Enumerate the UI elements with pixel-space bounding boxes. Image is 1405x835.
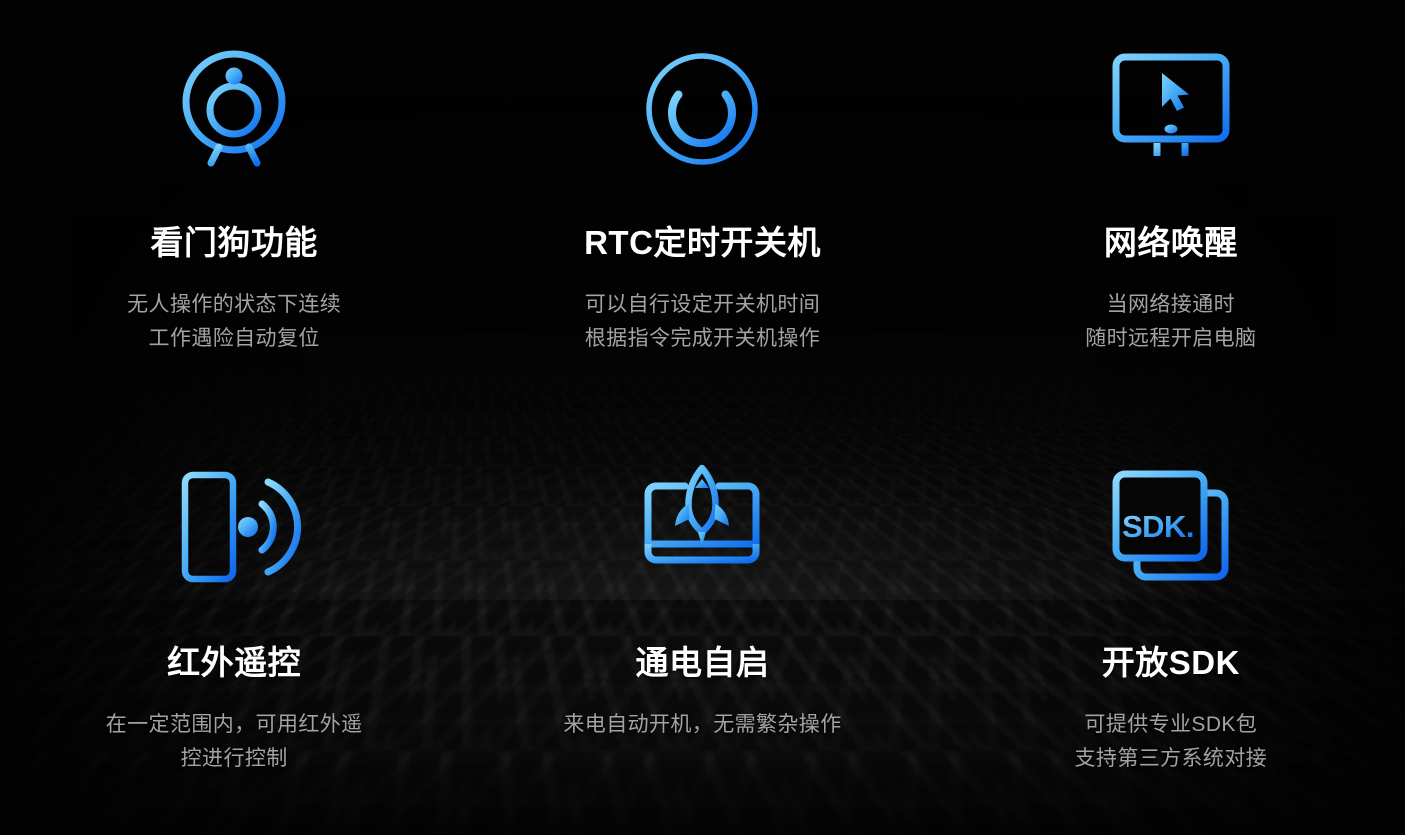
remote-signal-icon	[174, 462, 294, 592]
feature-description: 在一定范围内，可用红外遥 控进行控制	[106, 708, 363, 776]
feature-description: 可提供专业SDK包 支持第三方系统对接	[1075, 708, 1268, 776]
webcam-icon	[175, 44, 293, 174]
feature-title: 通电自启	[635, 644, 769, 682]
feature-title: 看门狗功能	[150, 224, 318, 262]
feature-card-watchdog[interactable]: 看门狗功能 无人操作的状态下连续 工作遇险自动复位	[0, 0, 468, 420]
feature-showcase-page: 看门狗功能 无人操作的状态下连续 工作遇险自动复位 RTC定时开关机 可以自行设…	[0, 0, 1405, 835]
feature-description-line: 当网络接通时	[1085, 288, 1256, 322]
feature-title: RTC定时开关机	[584, 224, 821, 262]
feature-description-line: 来电自动开机，无需繁杂操作	[563, 708, 841, 742]
feature-description-line: 随时远程开启电脑	[1085, 322, 1256, 356]
feature-description-line: 支持第三方系统对接	[1075, 742, 1268, 776]
feature-card-wake-on-lan[interactable]: 网络唤醒 当网络接通时 随时远程开启电脑	[937, 0, 1405, 420]
power-icon	[643, 44, 761, 174]
feature-description-line: 可提供专业SDK包	[1075, 708, 1268, 742]
feature-description-line: 根据指令完成开关机操作	[585, 322, 820, 356]
feature-card-ir-remote[interactable]: 红外遥控 在一定范围内，可用红外遥 控进行控制	[0, 420, 468, 835]
feature-description-line: 可以自行设定开关机时间	[585, 288, 820, 322]
feature-description-line: 控进行控制	[106, 742, 363, 776]
feature-description: 无人操作的状态下连续 工作遇险自动复位	[127, 288, 341, 356]
feature-description: 当网络接通时 随时远程开启电脑	[1085, 288, 1256, 356]
monitor-rocket-icon	[639, 462, 765, 592]
feature-card-rtc-power[interactable]: RTC定时开关机 可以自行设定开关机时间 根据指令完成开关机操作	[468, 0, 936, 420]
sdk-windows-icon: SDK.	[1110, 462, 1232, 592]
feature-description-line: 无人操作的状态下连续	[127, 288, 341, 322]
sdk-icon-label: SDK.	[1122, 509, 1194, 544]
feature-card-open-sdk[interactable]: SDK. 开放SDK 可提供专业SDK包 支持第三方系统对接	[937, 420, 1405, 835]
feature-title: 开放SDK	[1102, 644, 1240, 682]
feature-title: 网络唤醒	[1104, 224, 1238, 262]
feature-description-line: 在一定范围内，可用红外遥	[106, 708, 363, 742]
feature-grid: 看门狗功能 无人操作的状态下连续 工作遇险自动复位 RTC定时开关机 可以自行设…	[0, 0, 1405, 835]
feature-description: 来电自动开机，无需繁杂操作	[563, 708, 841, 742]
feature-title: 红外遥控	[167, 644, 301, 682]
feature-description: 可以自行设定开关机时间 根据指令完成开关机操作	[585, 288, 820, 356]
feature-card-auto-power-on[interactable]: 通电自启 来电自动开机，无需繁杂操作	[468, 420, 936, 835]
monitor-cursor-icon	[1107, 44, 1235, 174]
feature-description-line: 工作遇险自动复位	[127, 322, 341, 356]
